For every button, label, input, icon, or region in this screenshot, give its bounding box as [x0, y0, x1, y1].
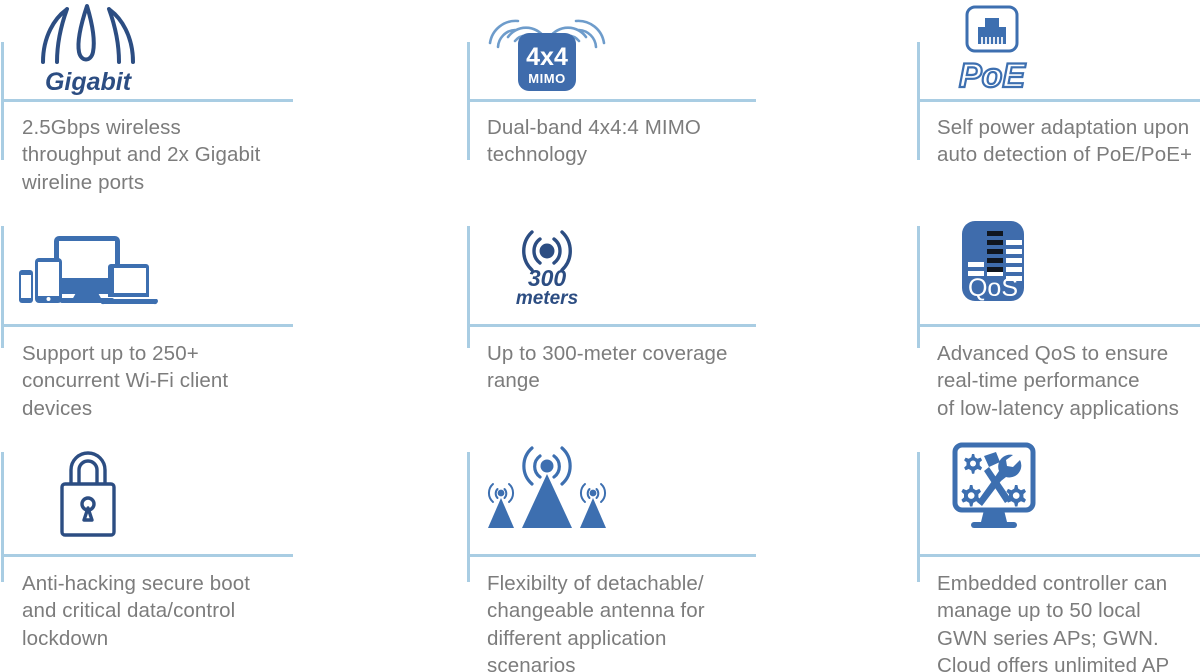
divider-vertical — [1, 226, 4, 348]
divider-vertical — [467, 452, 470, 582]
feature-cell-mimo: 4x4 MIMO Dual-band 4x4:4 MIMO technology — [452, 0, 902, 210]
feature-caption: Advanced QoS to ensure real-time perform… — [937, 340, 1179, 422]
divider-horizontal — [917, 554, 1200, 557]
mimo-ratio-label: 4x4 — [526, 43, 568, 71]
divider-horizontal — [1, 324, 293, 327]
svg-text:Gigabit: Gigabit — [45, 68, 133, 95]
feature-cell-security: Anti-hacking secure boot and critical da… — [0, 430, 452, 672]
poe-label: PoE — [959, 57, 1026, 95]
feature-caption: Dual-band 4x4:4 MIMO technology — [487, 114, 701, 169]
antennas-icon — [472, 440, 622, 540]
divider-vertical — [917, 226, 920, 348]
divider-horizontal — [1, 99, 293, 102]
feature-caption: 2.5Gbps wireless throughput and 2x Gigab… — [22, 114, 260, 196]
feature-caption: Flexibilty of detachable/ changeable ant… — [487, 570, 705, 672]
qos-label: QoS — [968, 274, 1018, 302]
feature-caption: Up to 300-meter coverage range — [487, 340, 728, 395]
divider-horizontal — [1, 554, 293, 557]
signal-range-icon: 300 meters — [472, 218, 622, 310]
feature-cell-range: 300 meters Up to 300-meter coverage rang… — [452, 210, 902, 430]
feature-cell-controller: Embedded controller can manage up to 50 … — [902, 430, 1200, 672]
poe-rj45-icon: PoE — [922, 0, 1062, 95]
feature-cell-clients: Support up to 250+ concurrent Wi-Fi clie… — [0, 210, 452, 430]
gigabit-icon: Gigabit — [8, 0, 168, 95]
feature-caption: Anti-hacking secure boot and critical da… — [22, 570, 250, 652]
mimo-sublabel: MIMO — [528, 71, 565, 86]
feature-cell-poe: PoE Self power adaptation upon auto dete… — [902, 0, 1200, 210]
feature-cell-qos: QoS Advanced QoS to ensure real-time per… — [902, 210, 1200, 430]
feature-cell-antenna: Flexibilty of detachable/ changeable ant… — [452, 430, 902, 672]
divider-vertical — [1, 452, 4, 582]
divider-horizontal — [467, 554, 756, 557]
divider-vertical — [917, 452, 920, 582]
monitor-tools-icon — [922, 440, 1062, 540]
padlock-icon — [8, 440, 168, 540]
qos-equalizer-icon: QoS — [922, 218, 1062, 310]
feature-caption: Embedded controller can manage up to 50 … — [937, 570, 1169, 672]
divider-horizontal — [467, 99, 756, 102]
divider-vertical — [467, 226, 470, 348]
feature-caption: Support up to 250+ concurrent Wi-Fi clie… — [22, 340, 228, 422]
range-unit-label: meters — [516, 288, 578, 309]
feature-cell-gigabit: Gigabit 2.5Gbps wireless throughput and … — [0, 0, 452, 210]
mimo-4x4-badge-icon: 4x4 MIMO — [472, 0, 622, 95]
feature-grid: Gigabit 2.5Gbps wireless throughput and … — [0, 0, 1200, 672]
divider-horizontal — [917, 324, 1200, 327]
multi-device-icon — [8, 218, 168, 310]
feature-caption: Self power adaptation upon auto detectio… — [937, 114, 1192, 169]
divider-horizontal — [917, 99, 1200, 102]
divider-horizontal — [467, 324, 756, 327]
